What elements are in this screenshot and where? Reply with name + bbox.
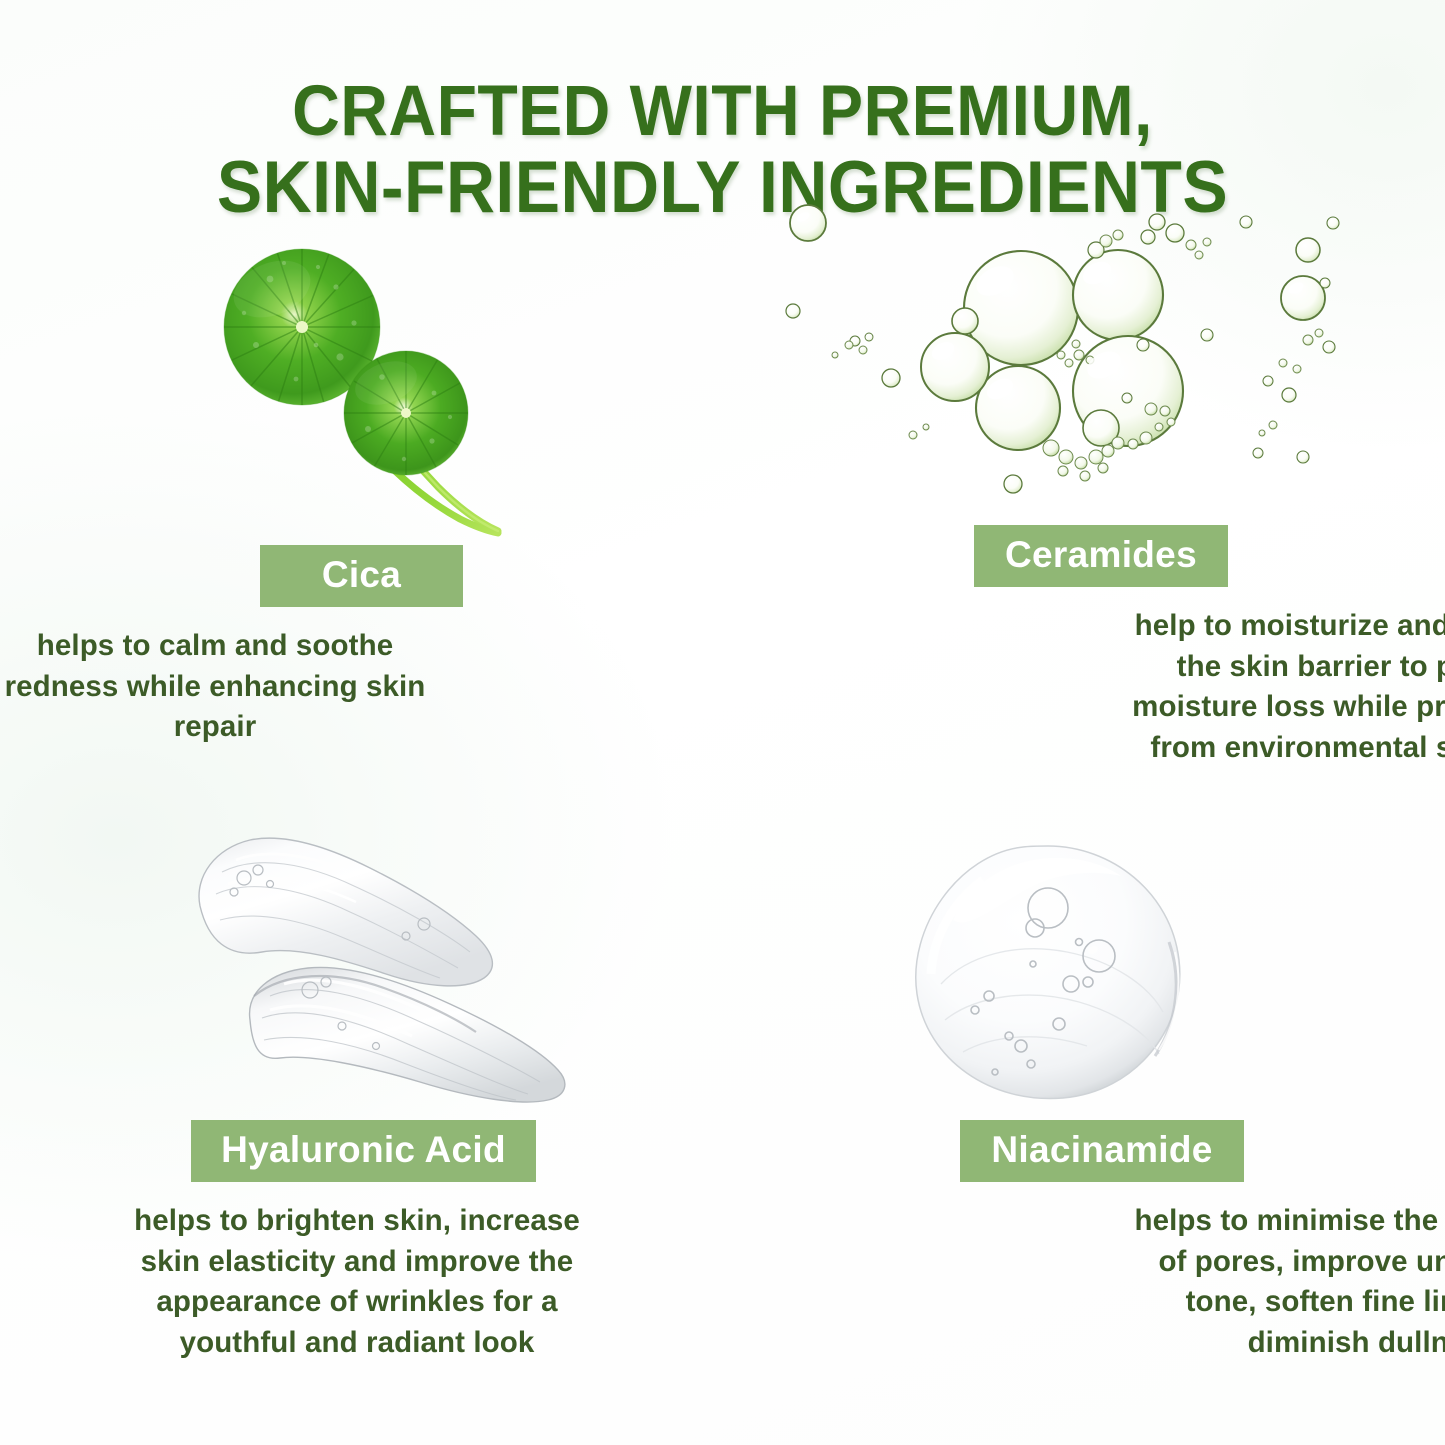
hyaluronic-acid-artwork: [0, 810, 723, 1120]
ingredients-infographic: CRAFTED WITH PREMIUM, SKIN-FRIENDLY INGR…: [0, 0, 1445, 1445]
ingredient-card-ceramides: Ceramides help to moisturize and reinfor…: [723, 195, 1445, 769]
page-title-line-1: CRAFTED WITH PREMIUM,: [51, 74, 1395, 149]
ingredient-card-cica: Cica helps to calm and soothe redness wh…: [0, 215, 723, 748]
ingredient-card-hyaluronic-acid: Hyaluronic Acid helps to brighten skin, …: [0, 810, 723, 1364]
niacinamide-artwork: [723, 810, 1445, 1120]
ingredient-name-hyaluronic-acid: Hyaluronic Acid: [191, 1120, 536, 1182]
ingredient-description-ceramides: help to moisturize and reinforce the ski…: [1117, 606, 1445, 769]
ceramides-artwork: [723, 195, 1445, 525]
ceramides-badge-row: Ceramides: [723, 525, 1445, 587]
clear-gel-swatch-image: [158, 820, 578, 1120]
clear-gel-droplet-image: [883, 824, 1213, 1124]
cica-badge-row: Cica: [0, 545, 723, 607]
ingredient-card-niacinamide: Niacinamide helps to minimise the appear…: [723, 810, 1445, 1364]
ingredient-description-cica: helps to calm and soothe redness while e…: [0, 626, 430, 748]
ingredient-description-hyaluronic-acid: helps to brighten skin, increase skin el…: [122, 1201, 592, 1364]
ingredient-description-niacinamide: helps to minimise the appearance of pore…: [1123, 1201, 1445, 1364]
centella-leaves-image: [198, 227, 538, 547]
green-bubbles-image: [763, 195, 1363, 525]
hyaluronic-acid-badge-row: Hyaluronic Acid: [0, 1120, 723, 1182]
cica-artwork: [0, 215, 723, 545]
ingredient-name-ceramides: Ceramides: [974, 525, 1228, 587]
niacinamide-badge-row: Niacinamide: [723, 1120, 1445, 1182]
ingredient-name-cica: Cica: [260, 545, 463, 607]
ingredient-name-niacinamide: Niacinamide: [960, 1120, 1243, 1182]
